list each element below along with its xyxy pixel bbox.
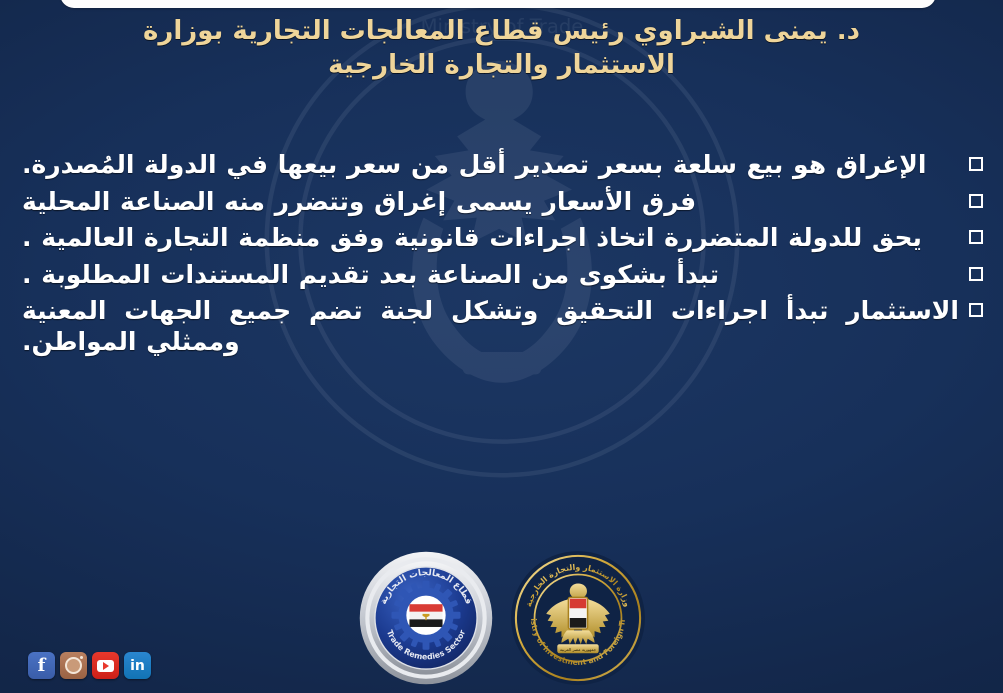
bullet-text: الاستثمار تبدأ اجراءات التحقيق وتشكل لجن… (16, 296, 959, 357)
bullet-text: الإغراق هو بيع سلعة بسعر تصدير أقل من سع… (16, 150, 959, 181)
facebook-icon[interactable]: f (28, 652, 55, 679)
square-bullet-icon (965, 266, 987, 285)
facebook-glyph: f (38, 657, 46, 675)
trade-remedies-sector-logo: قطاع المعالجات التجارية Trade Remedies S… (357, 549, 495, 687)
square-bullet-icon (965, 302, 987, 321)
linkedin-icon[interactable]: in (124, 652, 151, 679)
square-bullet-icon (965, 229, 987, 248)
instagram-camera-glyph (65, 657, 82, 674)
instagram-icon[interactable] (60, 652, 87, 679)
youtube-play-glyph (97, 660, 114, 672)
bullet-text: فرق الأسعار يسمى إغراق وتتضرر منه الصناع… (16, 187, 959, 218)
bullet-text: يحق للدولة المتضررة اتخاذ اجراءات قانوني… (16, 223, 959, 254)
slide-canvas: Ministry of Trade د. يمنى الشبراوي رئيس … (0, 0, 1003, 693)
square-bullet-icon (965, 156, 987, 175)
linkedin-glyph: in (130, 659, 145, 673)
list-item: فرق الأسعار يسمى إغراق وتتضرر منه الصناع… (16, 187, 987, 218)
list-item: الإغراق هو بيع سلعة بسعر تصدير أقل من سع… (16, 150, 987, 181)
bullet-text: تبدأ بشكوى من الصناعة بعد تقديم المستندا… (16, 260, 959, 291)
title-line-1: د. يمنى الشبراوي رئيس قطاع المعالجات الت… (70, 14, 933, 48)
ministry-logo-motto: جمهورية مصر العربية (559, 647, 596, 652)
instagram-dot-glyph (80, 656, 83, 659)
square-bullet-icon (965, 193, 987, 212)
youtube-icon[interactable] (92, 652, 119, 679)
list-item: الاستثمار تبدأ اجراءات التحقيق وتشكل لجن… (16, 296, 987, 357)
social-icon-row: f in (28, 652, 151, 679)
list-item: يحق للدولة المتضررة اتخاذ اجراءات قانوني… (16, 223, 987, 254)
list-item: تبدأ بشكوى من الصناعة بعد تقديم المستندا… (16, 260, 987, 291)
top-white-notch (60, 0, 936, 8)
page-title: د. يمنى الشبراوي رئيس قطاع المعالجات الت… (0, 14, 1003, 83)
ministry-of-investment-and-foreign-trade-logo: جمهورية مصر العربية وزارة الاستثمار والت… (509, 549, 647, 687)
title-line-2: الاستثمار والتجارة الخارجية (70, 48, 933, 82)
bullet-list: الإغراق هو بيع سلعة بسعر تصدير أقل من سع… (16, 150, 987, 363)
